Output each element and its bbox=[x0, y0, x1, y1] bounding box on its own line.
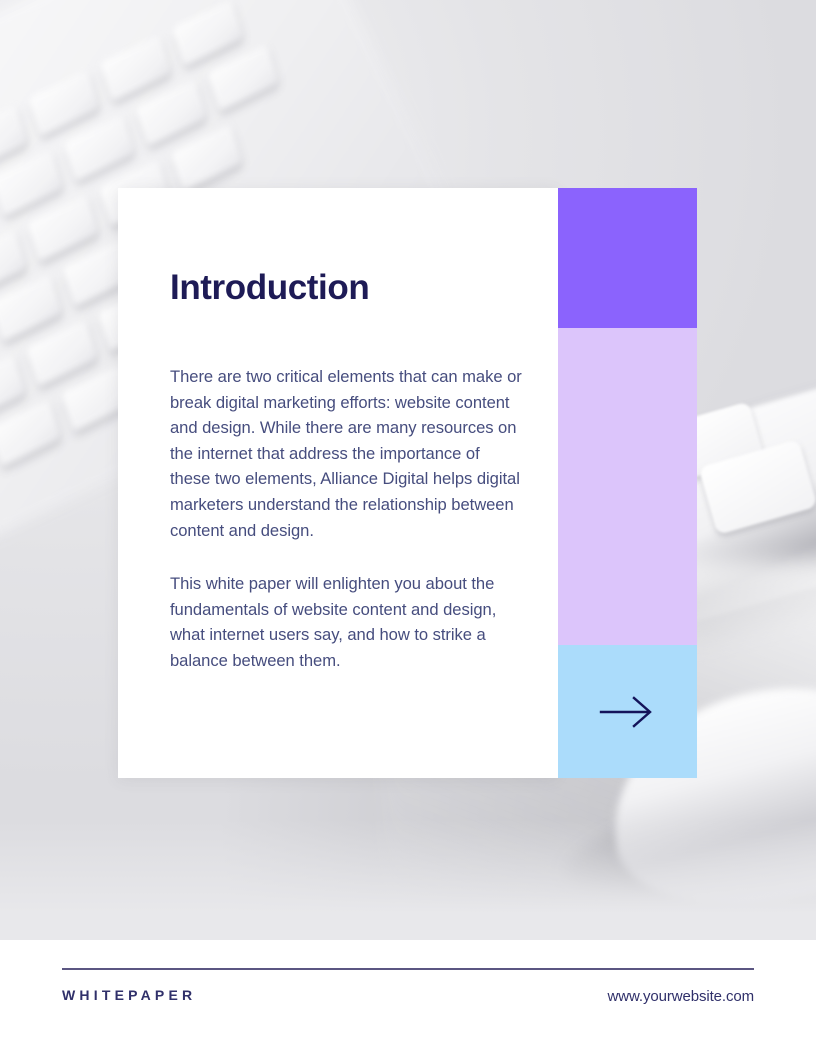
body-copy: There are two critical elements that can… bbox=[170, 364, 522, 674]
paragraph-2: This white paper will enlighten you abou… bbox=[170, 571, 522, 673]
keyboard-key bbox=[135, 79, 207, 146]
content-card: Introduction There are two critical elem… bbox=[118, 188, 558, 778]
footer-label: WHITEPAPER bbox=[62, 987, 196, 1003]
whitepaper-page: Introduction There are two critical elem… bbox=[0, 0, 816, 1056]
color-block-purple bbox=[558, 188, 697, 328]
keyboard-key bbox=[0, 274, 62, 341]
arrow-right-icon bbox=[599, 695, 657, 729]
footer-divider bbox=[62, 968, 754, 970]
page-title: Introduction bbox=[170, 270, 369, 305]
keyboard-key bbox=[171, 124, 243, 191]
keyboard-key bbox=[207, 44, 279, 111]
color-block-lavender bbox=[558, 328, 697, 645]
footer-website-link[interactable]: www.yourwebsite.com bbox=[608, 988, 754, 1005]
paragraph-1: There are two critical elements that can… bbox=[170, 364, 522, 543]
next-page-button[interactable] bbox=[558, 645, 697, 778]
keyboard-key bbox=[26, 319, 98, 386]
keyboard-key bbox=[0, 149, 63, 216]
keyboard-key bbox=[0, 400, 61, 467]
photo-bottom-fade bbox=[0, 820, 816, 940]
keyboard-key bbox=[63, 114, 135, 181]
color-block-strip bbox=[558, 188, 697, 778]
keyboard-key bbox=[27, 194, 99, 261]
